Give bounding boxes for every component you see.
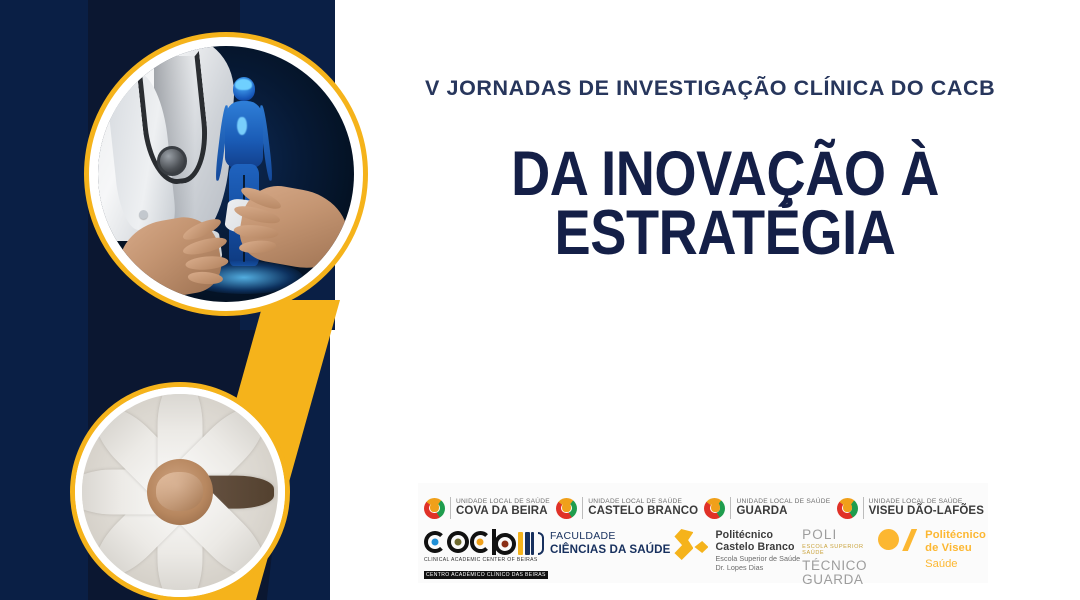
- cacb-logo: CLINICAL ACADEMIC CENTER OF BEIRAS CENTR…: [424, 527, 516, 581]
- uls-label-big: CASTELO BRANCO: [588, 505, 698, 517]
- uls-label-big: COVA DA BEIRA: [456, 505, 550, 517]
- faculdade-line-1: FACULDADE: [550, 531, 670, 543]
- hologram-brain: [235, 79, 252, 90]
- divider: [450, 497, 451, 519]
- uls-label-small: UNIDADE LOCAL DE SAÚDE: [736, 499, 830, 506]
- ipv-line-1: Politécnico: [925, 529, 986, 542]
- faculdade-mark-icon: [518, 530, 544, 557]
- uls-logo-viseu-dao-lafoes: UNIDADE LOCAL DE SAÚDE VISEU DÃO-LAFÕES: [837, 497, 984, 519]
- coat-button: [139, 210, 148, 219]
- sponsor-logo-band: UNIDADE LOCAL DE SAÚDE COVA DA BEIRA UNI…: [418, 483, 988, 583]
- faculdade-ciencias-saude-logo: FACULDADE CIÊNCIAS DA SAÚDE: [518, 527, 670, 557]
- cacb-subtitle-pt: CENTRO ACADÉMICO CLÍNICO DAS BEIRAS: [424, 571, 548, 579]
- cacb-letter-c2: [470, 531, 492, 553]
- politecnico-castelo-branco-logo: Politécnico Castelo Branco Escola Superi…: [672, 527, 800, 572]
- doctor-hologram-artwork: [98, 46, 354, 302]
- ipv-line-3: Saúde: [925, 558, 986, 571]
- team-hands-photo: [82, 394, 278, 590]
- uls-logo-guarda: UNIDADE LOCAL DE SAÚDE GUARDA: [704, 497, 830, 519]
- event-headline: DA INOVAÇÃO À ESTRATÉGIA: [463, 145, 988, 262]
- politecnico-castelo-branco-mark-icon: [672, 529, 708, 563]
- uls-label-big: GUARDA: [736, 505, 830, 517]
- doctor-hologram-photo: [98, 46, 354, 302]
- uls-label-small: UNIDADE LOCAL DE SAÚDE: [588, 499, 698, 506]
- joined-hands: [147, 459, 214, 526]
- team-hands-artwork: [82, 394, 278, 590]
- faculdade-line-2: CIÊNCIAS DA SAÚDE: [550, 543, 670, 556]
- divider: [863, 497, 864, 519]
- politecnico-viseu-mark-icon: [878, 529, 918, 551]
- ipcb-line-2: Castelo Branco: [715, 541, 800, 553]
- uls-circle-icon: [424, 498, 445, 519]
- hologram-torso: [225, 101, 262, 167]
- finger: [233, 224, 279, 241]
- cacb-letter-a: [447, 531, 469, 553]
- ipg-line-3: SAÚDE: [802, 550, 876, 557]
- event-kicker: V JORNADAS DE INVESTIGAÇÃO CLÍNICA DO CA…: [425, 76, 1025, 101]
- politecnico-viseu-logo: Politécnico de Viseu Saúde: [878, 527, 986, 571]
- finger: [188, 271, 224, 285]
- ipcb-line-1: Politécnico: [715, 529, 800, 541]
- cacb-wordmark-icon: [424, 529, 516, 555]
- uls-logo-castelo-branco: UNIDADE LOCAL DE SAÚDE CASTELO BRANCO: [556, 497, 698, 519]
- uls-logo-cova-da-beira: UNIDADE LOCAL DE SAÚDE COVA DA BEIRA: [424, 497, 550, 519]
- ipv-line-2: de Viseu: [925, 542, 986, 555]
- ipg-line-4: TÉCNICO: [802, 559, 876, 573]
- institution-logo-row: CLINICAL ACADEMIC CENTER OF BEIRAS CENTR…: [424, 527, 986, 579]
- divider: [730, 497, 731, 519]
- event-poster: V JORNADAS DE INVESTIGAÇÃO CLÍNICA DO CA…: [0, 0, 1080, 600]
- cacb-letter-b: [492, 529, 516, 555]
- uls-circle-icon: [837, 498, 858, 519]
- divider: [582, 497, 583, 519]
- uls-label-small: UNIDADE LOCAL DE SAÚDE: [456, 499, 550, 506]
- stethoscope-chestpiece: [157, 146, 187, 176]
- uls-label-big: VISEU DÃO-LAFÕES: [869, 505, 984, 517]
- ipg-line-5: GUARDA: [802, 573, 876, 587]
- cacb-letter-c: [424, 531, 446, 553]
- uls-circle-icon: [704, 498, 725, 519]
- finger: [239, 240, 276, 254]
- politecnico-guarda-logo: POLI ESCOLA SUPERIOR SAÚDE TÉCNICO GUARD…: [802, 527, 876, 587]
- cacb-subtitle-en: CLINICAL ACADEMIC CENTER OF BEIRAS: [424, 557, 516, 563]
- headline-line-2: ESTRATÉGIA: [463, 204, 988, 263]
- uls-logo-row: UNIDADE LOCAL DE SAÚDE COVA DA BEIRA UNI…: [424, 491, 984, 525]
- uls-circle-icon: [556, 498, 577, 519]
- ipcb-line-4: Dr. Lopes Dias: [715, 564, 800, 572]
- ipg-line-1: POLI: [802, 528, 876, 542]
